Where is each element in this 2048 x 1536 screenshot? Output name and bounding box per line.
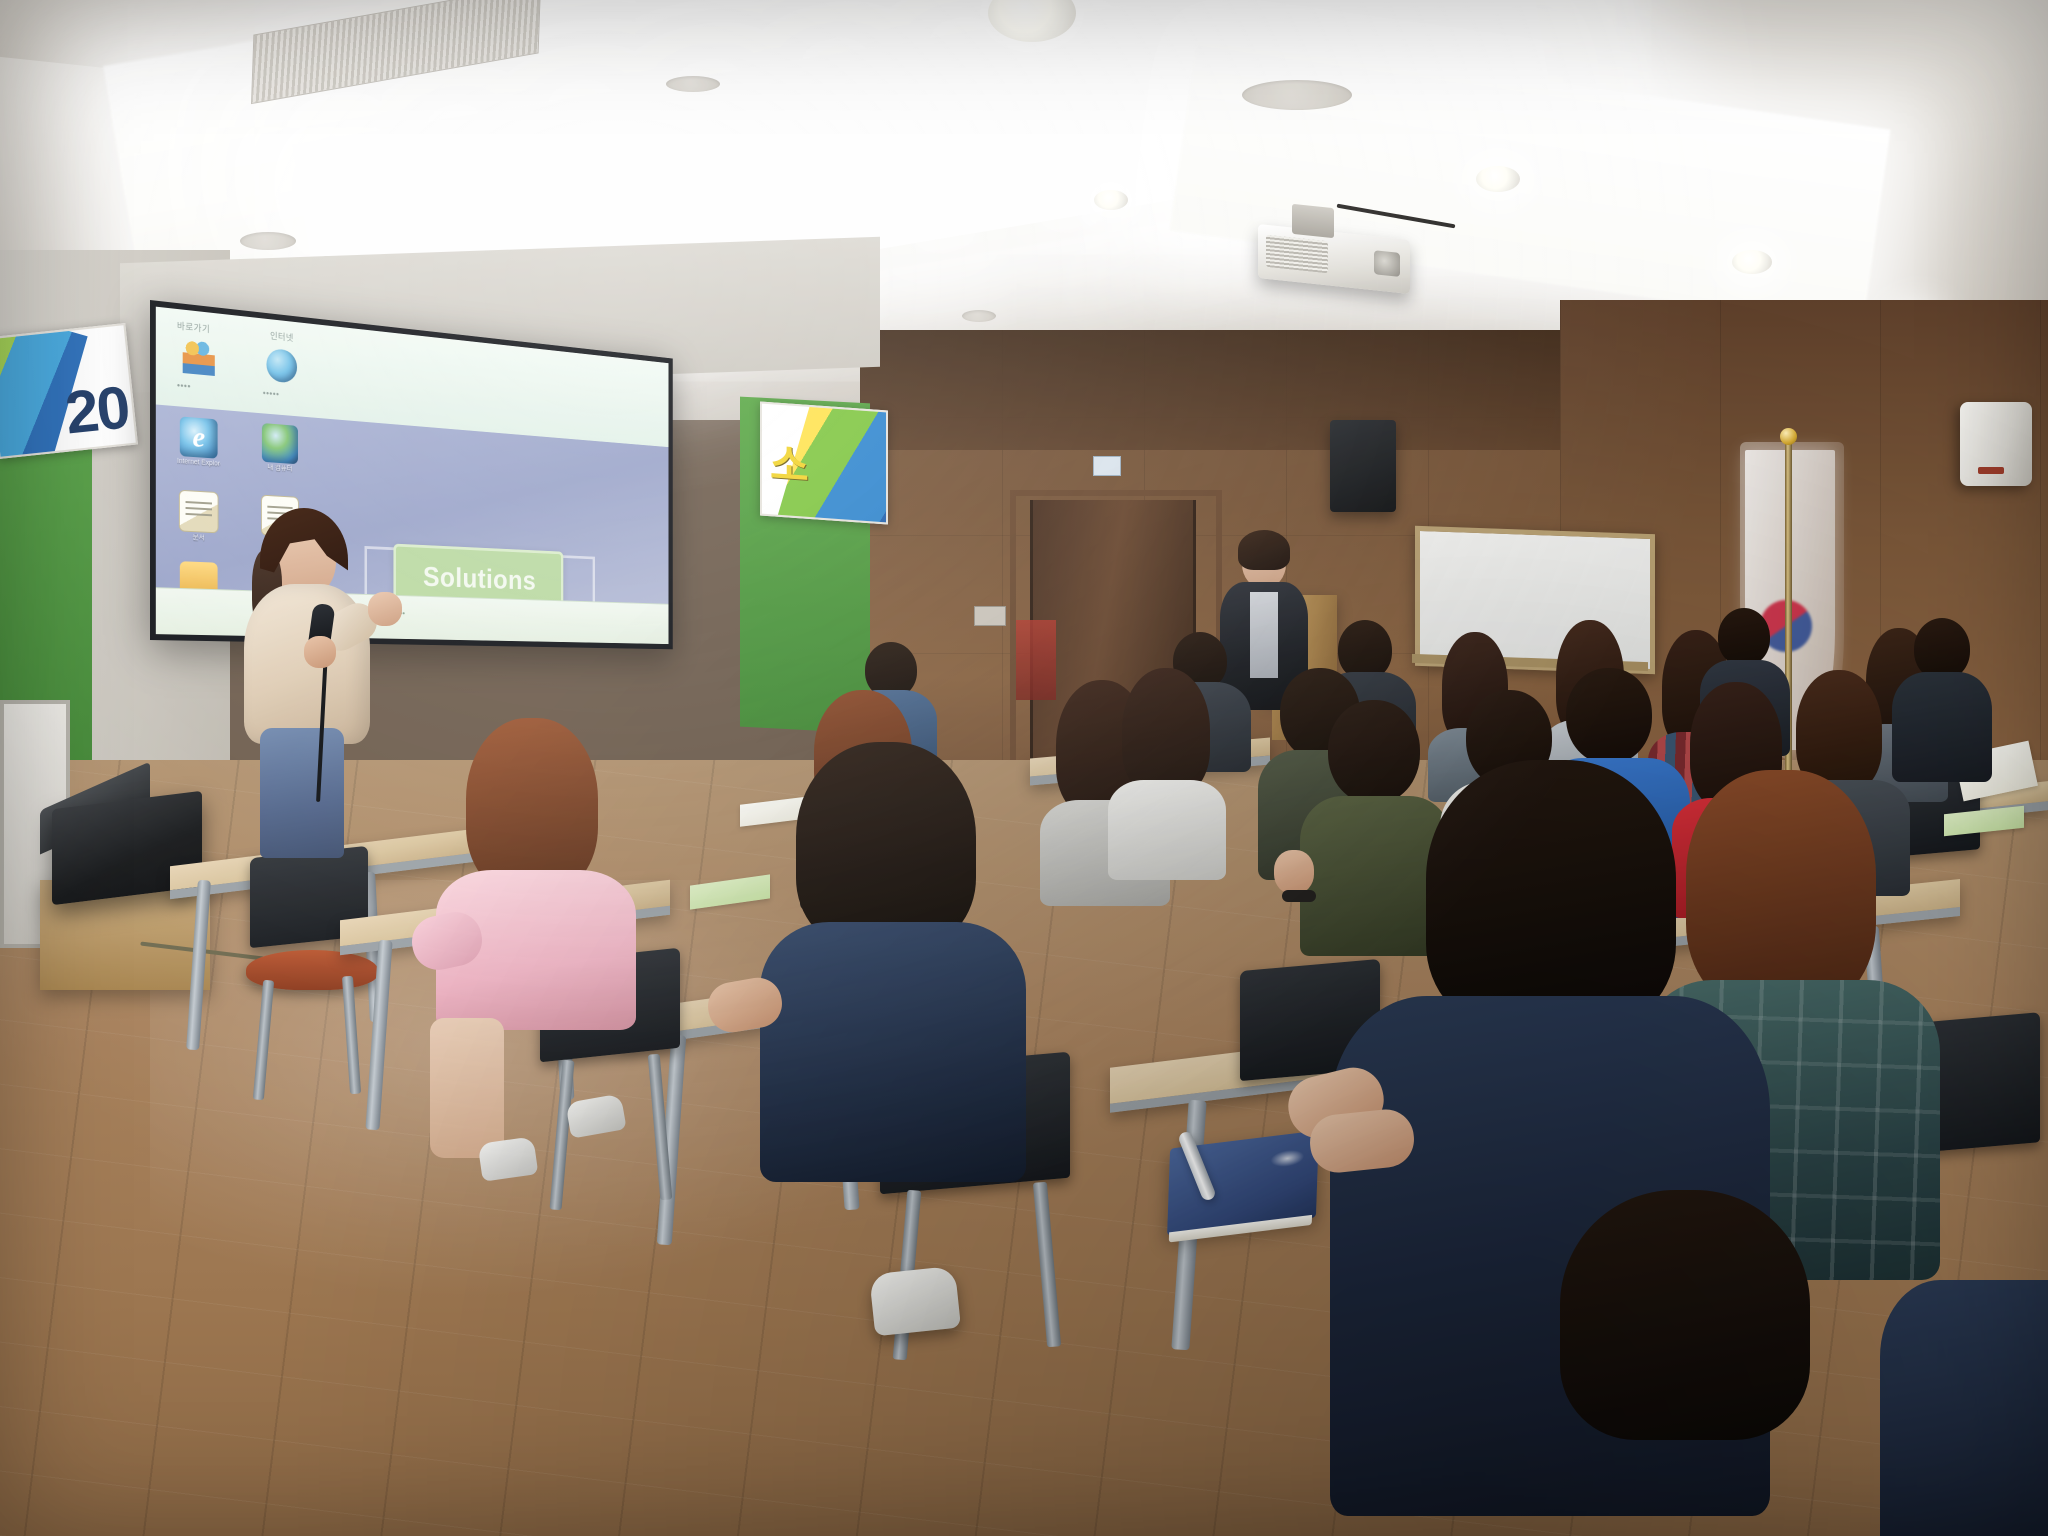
projector-vent-grille (1266, 235, 1328, 274)
attendee-hair (796, 742, 976, 948)
projector-mount-bracket (1292, 204, 1334, 238)
attendee-shoe (478, 1136, 539, 1181)
attendee-torso (760, 922, 1026, 1182)
toolbar-caption-right: ••••• (263, 388, 280, 399)
attendee-torso (1108, 780, 1226, 880)
attendee-navy-jacket (760, 742, 1026, 1202)
attendee-hair (1122, 668, 1210, 796)
presenter-hand-mic (304, 636, 336, 668)
attendee-head (1914, 618, 1970, 680)
banner-left-text: 20 (62, 372, 132, 447)
attendee-leg (430, 1018, 504, 1158)
attendee-foreground-shoulder (1880, 1280, 2048, 1536)
ceiling-speaker-black (1330, 420, 1396, 512)
desktop-icon-label-2: 문서 (177, 533, 220, 543)
attendee-white-shirt (1108, 668, 1226, 868)
attendee-hair (1560, 1190, 1810, 1440)
ceiling-fixture-ring-7 (962, 310, 996, 322)
desktop-icon-document-1[interactable]: 문서 (177, 490, 220, 544)
presenter-jeans (260, 728, 344, 858)
internet-globe-icon[interactable] (266, 348, 297, 384)
speaker-port (1978, 467, 2004, 474)
ceiling-fixture-ring-3 (240, 232, 296, 250)
desktop-icon-label-1: 내 컴퓨터 (259, 464, 300, 475)
attendee-hair (466, 718, 598, 894)
downlight-icon-3 (1476, 166, 1520, 192)
seminar-room-photo: 20 소 바로가기 인터넷 •••• ••••• Internet Explor… (0, 0, 2048, 1536)
downlight-icon-5 (1094, 190, 1128, 210)
attendee-sneaker (869, 1266, 961, 1337)
staff-hair (1238, 530, 1290, 570)
wrist-band (1282, 890, 1316, 902)
presenter-hand-raised (368, 592, 402, 626)
document-icon-1 (179, 490, 219, 534)
flag-pole-finial (1780, 428, 1797, 445)
globe-icon (262, 423, 298, 464)
wall-banner-right: 소 (760, 402, 888, 525)
desktop-icon-label-0: Internet Explorer (177, 458, 220, 469)
toolbar-label-right: 인터넷 (270, 329, 294, 344)
ceiling-fixture-ring-4 (1242, 80, 1352, 110)
toolbar-caption-left: •••• (177, 380, 191, 391)
people-icon[interactable] (183, 339, 215, 376)
attendee-hand (1274, 850, 1314, 894)
downlight-icon-2 (1732, 250, 1772, 274)
attendee-head (1718, 608, 1770, 666)
attendee-foreground-left-head (1560, 1190, 1820, 1536)
projection-screen: 바로가기 인터넷 •••• ••••• Internet Explorer 내 … (150, 300, 673, 649)
internet-explorer-icon (180, 416, 218, 458)
wall-banner-left: 20 (0, 323, 138, 459)
attendee-pink-sweater (436, 718, 640, 1048)
desktop-icon-internet-explorer[interactable]: Internet Explorer (177, 416, 220, 469)
wall-speaker (1960, 402, 2032, 486)
presenter (236, 520, 406, 850)
attendee-head (1566, 668, 1652, 764)
wall-switch-plate[interactable] (974, 606, 1006, 626)
projected-slide: 바로가기 인터넷 •••• ••••• Internet Explorer 내 … (156, 307, 669, 644)
attendee-hair (1426, 760, 1676, 1030)
notebook-emblem (1270, 1148, 1304, 1168)
banner-right-text: 소 (770, 430, 809, 494)
desktop-icon-globe[interactable]: 내 컴퓨터 (259, 423, 300, 474)
projector-lens (1374, 250, 1400, 277)
sign-title: Solutions (423, 564, 536, 596)
toolbar-label-left: 바로가기 (177, 319, 210, 335)
ceiling-fixture-ring-5 (666, 76, 720, 92)
exit-sign (1093, 456, 1121, 476)
